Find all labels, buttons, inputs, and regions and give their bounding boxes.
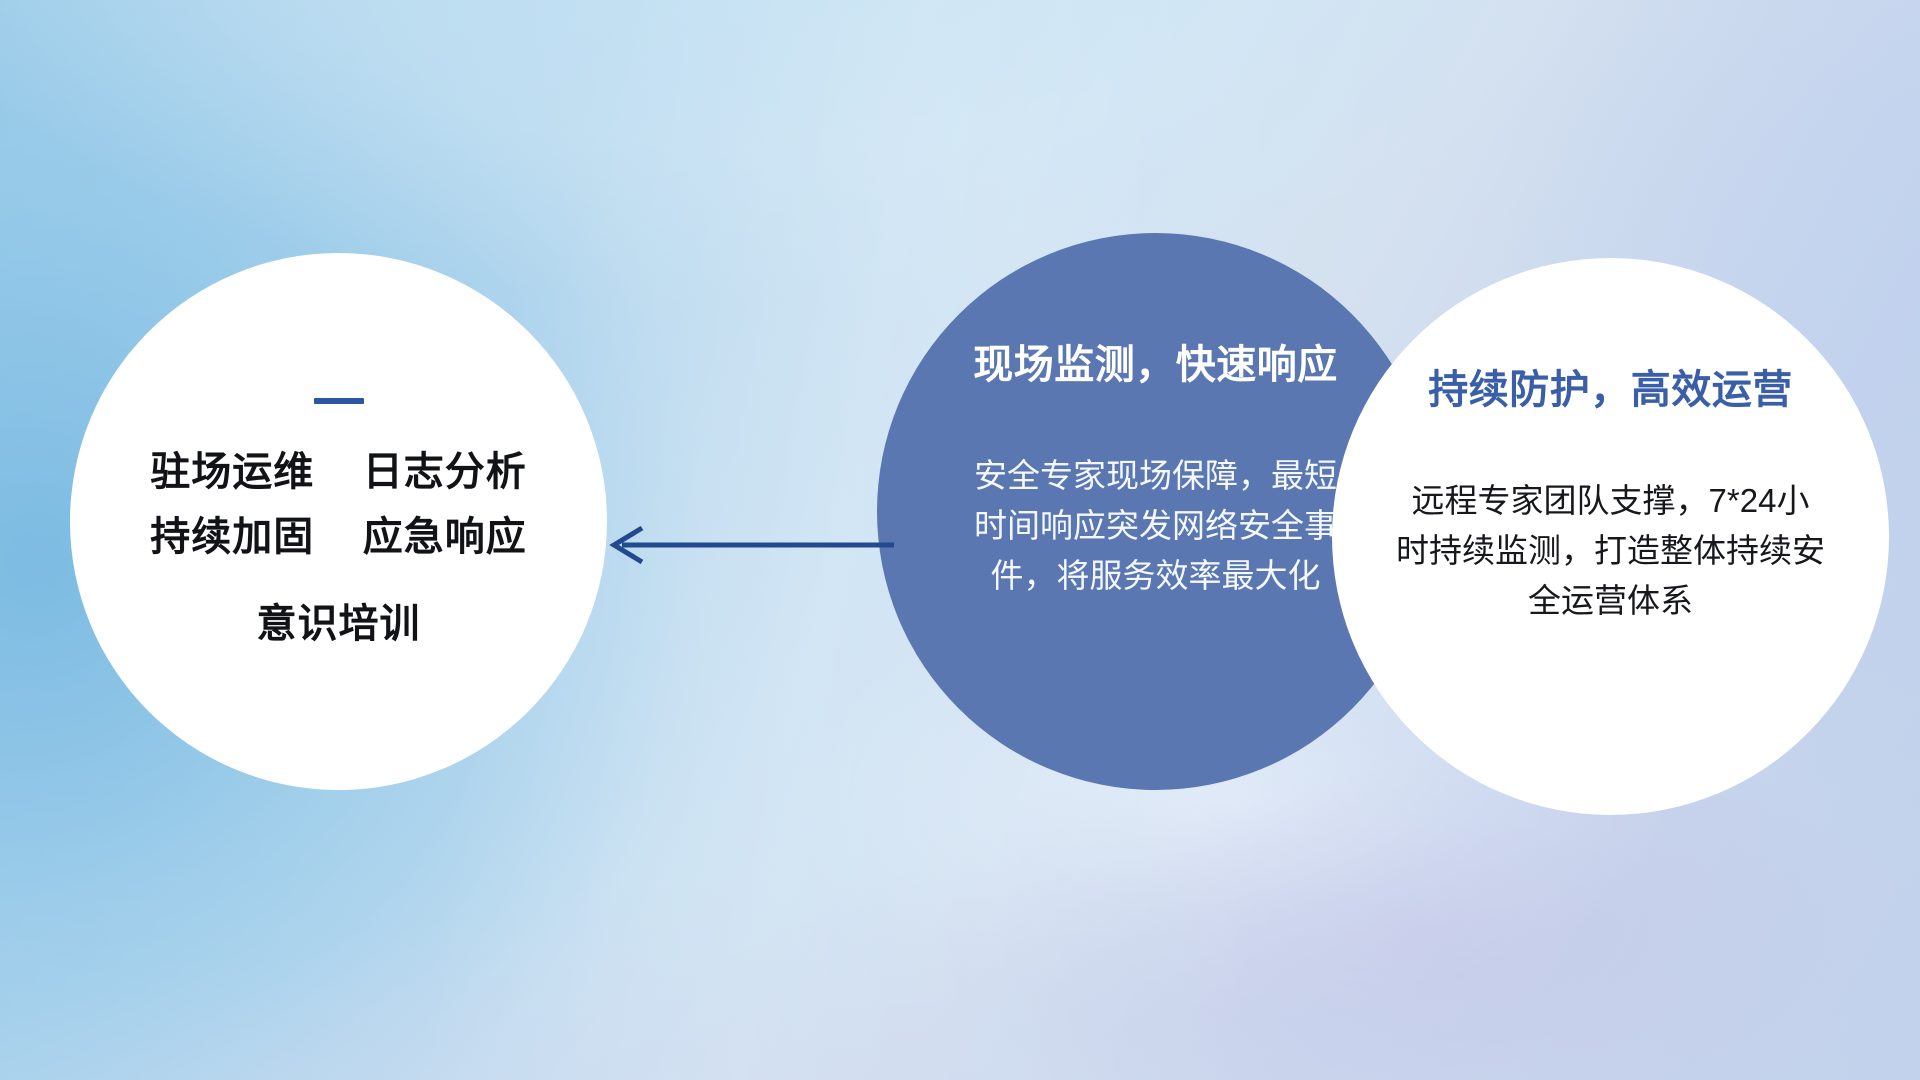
card-content-continuous-protection: 持续防护，高效运营 远程专家团队支撑，7*24小时持续监测，打造整体持续安全运营…	[1332, 258, 1889, 815]
card-circle-service-tags[interactable]: 驻场运维 日志分析 持续加固 应急响应 意识培训	[70, 253, 607, 790]
service-tag-row: 持续加固 应急响应	[70, 515, 607, 560]
flow-arrow-left-icon	[596, 515, 896, 575]
service-tag-row: 驻场运维 日志分析	[70, 450, 607, 495]
service-tag-row: 意识培训	[70, 602, 607, 647]
slide-canvas: 现场监测，快速响应 安全专家现场保障，最短时间响应突发网络安全事件，将服务效率最…	[0, 0, 1920, 1080]
card-circle-continuous-protection[interactable]: 持续防护，高效运营 远程专家团队支撑，7*24小时持续监测，打造整体持续安全运营…	[1332, 258, 1889, 815]
card-body-onsite-monitoring: 安全专家现场保障，最短时间响应突发网络安全事件，将服务效率最大化	[963, 451, 1348, 601]
service-tag-list: 驻场运维 日志分析 持续加固 应急响应 意识培训	[70, 450, 607, 646]
card-heading-onsite-monitoring: 现场监测，快速响应	[973, 341, 1338, 389]
card-content-service-tags: 驻场运维 日志分析 持续加固 应急响应 意识培训	[70, 253, 607, 790]
card-body-continuous-protection: 远程专家团队支撑，7*24小时持续监测，打造整体持续安全运营体系	[1396, 476, 1826, 626]
accent-dash-icon	[314, 398, 364, 404]
card-heading-continuous-protection: 持续防护，高效运营	[1428, 366, 1793, 414]
